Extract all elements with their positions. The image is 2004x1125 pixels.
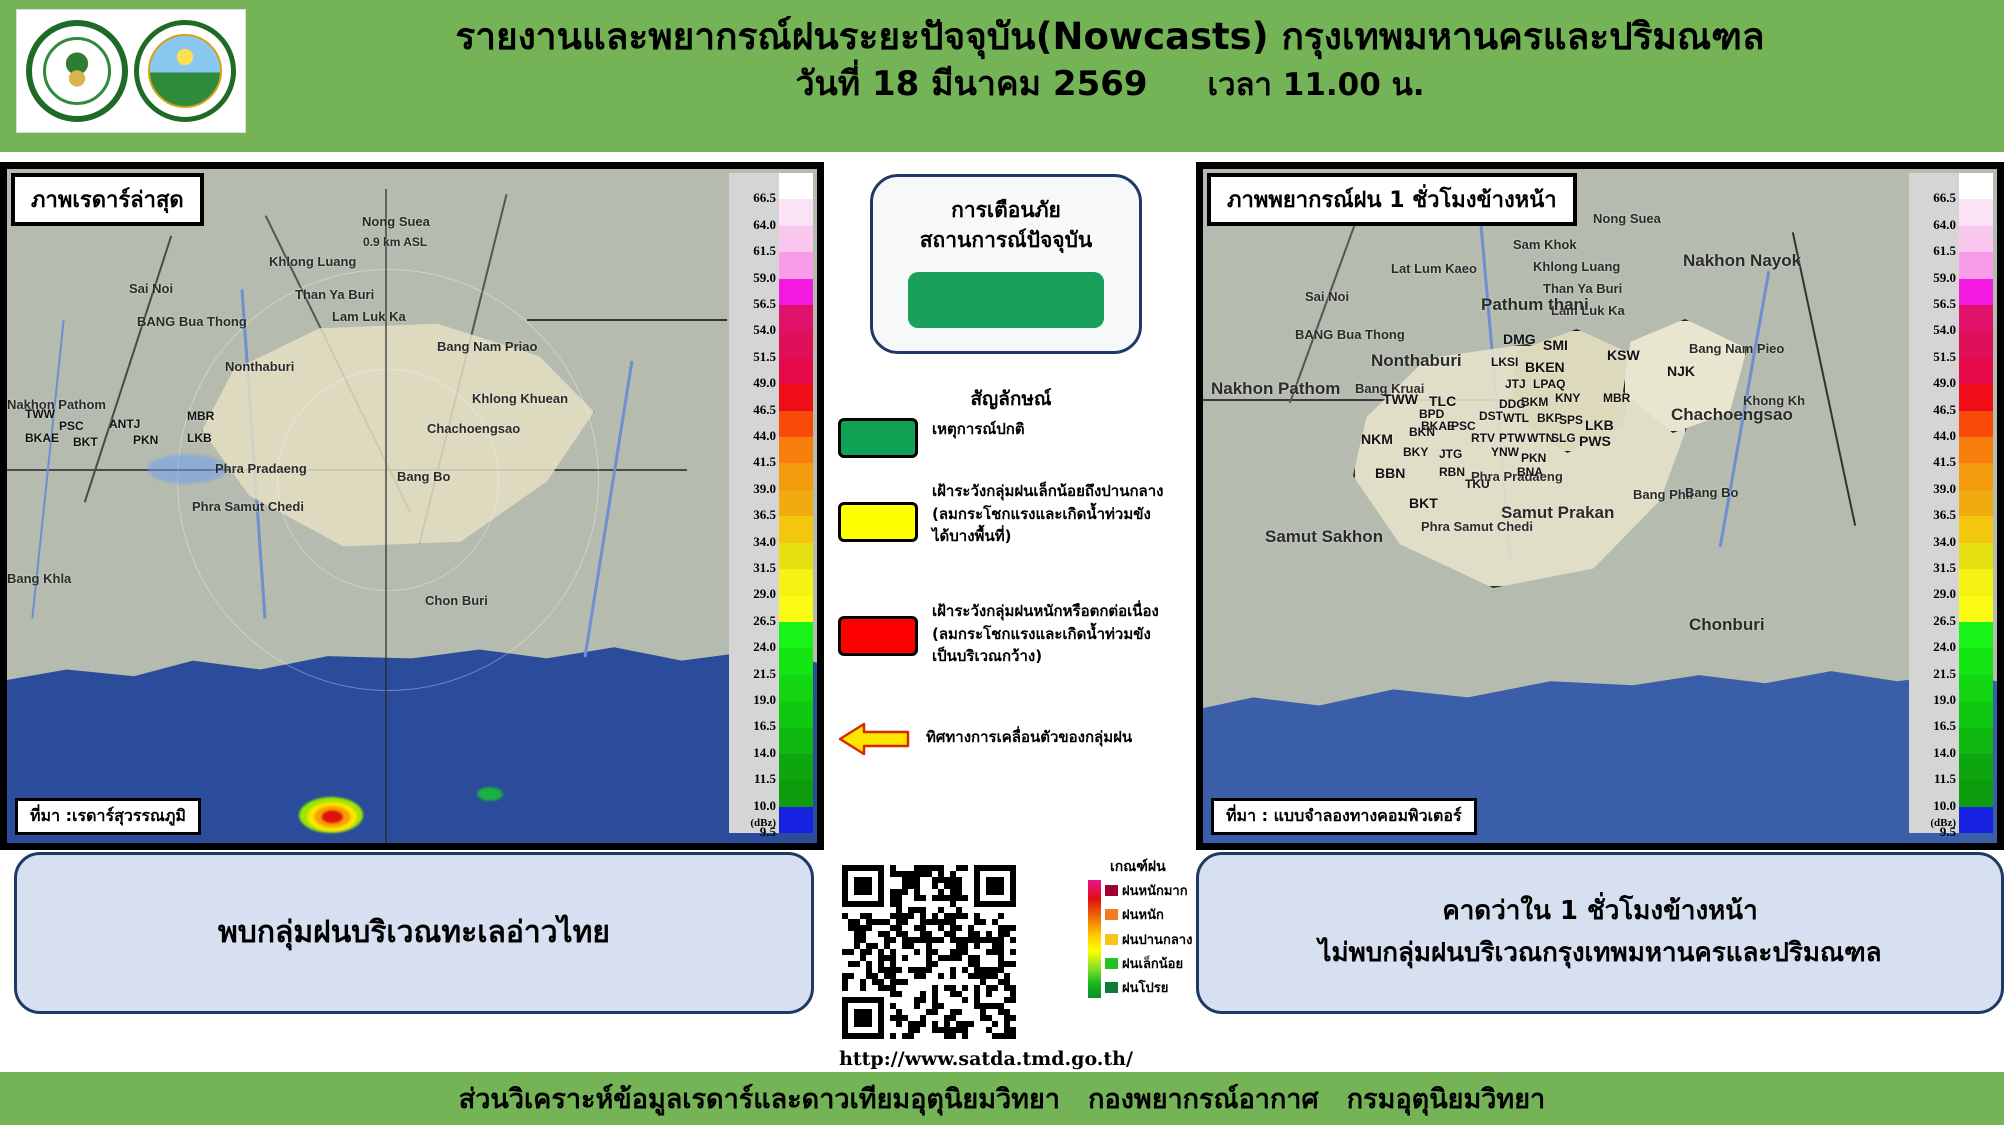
scale-color-band [1959,596,1993,622]
scale-tick: 19.0 [1933,692,1956,708]
scale-color-band [779,463,813,489]
radar-summary-box: พบกลุ่มฝนบริเวณทะเลอ่าวไทย [14,852,814,1014]
map-label: Khlong Khuean [472,391,568,406]
district-code: BPD [1419,407,1444,421]
scale-color-band [1959,648,1993,674]
scale-tick: 36.5 [753,507,776,523]
scale-tick: 59.0 [753,270,776,286]
agency-logos [16,9,246,133]
map-label: Than Ya Buri [1543,281,1622,296]
radar-range-ring [277,369,499,591]
forecast-source-tag: ที่มา : แบบจำลองทางคอมพิวเตอร์ [1211,798,1477,835]
map-label: Khong Kh [1743,393,1805,408]
scale-color-band [1959,331,1993,357]
scale-color-band [779,569,813,595]
district-code: LPAQ [1533,377,1565,391]
scale-tick: 26.5 [753,613,776,629]
map-label: Lam Luk Ka [332,309,406,324]
website-url[interactable]: http://www.satda.tmd.go.th/ [836,1048,1136,1070]
district-code: SMI [1543,337,1568,353]
district-code: SPS [1559,413,1583,427]
scale-color-bar [779,173,813,833]
district-code: JTJ [1505,377,1526,391]
warning-status-box: การเตือนภัย สถานการณ์ปัจจุบัน [870,174,1142,354]
scale-color-band [1959,780,1993,806]
legend-item-caution: เฝ้าระวังกลุ่มฝนเล็กน้อยถึงปานกลาง (ลมกร… [838,480,1163,548]
district-code: BBN [1375,465,1405,481]
scale-tick: 29.0 [1933,586,1956,602]
scale-color-band [779,648,813,674]
scale-color-band [1959,463,1993,489]
scale-color-band [779,173,813,199]
scale-color-band [1959,622,1993,648]
radar-center-axis [385,189,387,849]
warning-title-line1: การเตือนภัย [951,195,1061,225]
scale-tick: 24.0 [753,639,776,655]
scale-tick: 61.5 [753,243,776,259]
map-label: Nonthaburi [225,359,294,374]
scale-color-band [779,437,813,463]
legend-label: เฝ้าระวังกลุ่มฝนเล็กน้อยถึงปานกลาง (ลมกร… [932,480,1163,548]
rain-criteria-item: ฝนหนัก [1105,904,1192,925]
district-code: BKAE [25,431,59,445]
district-code: PKN [133,433,158,447]
radar-echo-cell [477,787,503,801]
district-code: DDG [1499,397,1526,411]
forecast-panel-tag: ภาพพยากรณ์ฝน 1 ชั่วโมงข้างหน้า [1207,173,1577,226]
map-label: Phra Samut Chedi [1421,519,1533,534]
scale-color-band [1959,569,1993,595]
scale-color-band [1959,437,1993,463]
scale-color-band [779,622,813,648]
map-label: Pathum thani [1481,295,1589,315]
scale-color-band [779,358,813,384]
legend-swatch-red [838,616,918,656]
scale-tick: 51.5 [753,349,776,365]
scale-tick: 34.0 [1933,534,1956,550]
radar-echo-cell [299,797,363,833]
scale-tick: 31.5 [753,560,776,576]
district-code: BKT [1409,495,1438,511]
scale-color-band [1959,199,1993,225]
scale-tick: 39.0 [1933,481,1956,497]
scale-tick: 21.5 [753,666,776,682]
district-code: KNY [1555,391,1580,405]
district-code: SLG [1551,431,1576,445]
district-code: MBR [1603,391,1630,405]
forecast-summary-line2: ไม่พบกลุ่มฝนบริเวณกรุงเทพมหานครและปริมณฑ… [1318,933,1881,975]
rain-criteria-item: ฝนปานกลาง [1105,929,1192,950]
map-label: Bang Bo [397,469,450,484]
scale-tick: 14.0 [753,745,776,761]
scale-color-band [1959,543,1993,569]
rain-criteria-swatch [1105,958,1118,969]
rain-criteria-label: ฝนโปรย [1122,977,1168,998]
district-code: LKB [187,431,212,445]
scale-color-band [779,675,813,701]
scale-unit: (dBz) [750,817,776,829]
district-code: LKB [1585,417,1614,433]
map-label: Nonthaburi [1371,351,1462,371]
scale-color-band [779,728,813,754]
district-code: MBR [187,409,214,423]
map-label: Nakhon Pathom [7,397,106,412]
district-code: BKY [1403,445,1428,459]
scale-color-bar [1959,173,1993,833]
map-label: Sai Noi [1305,289,1349,304]
scale-color-band [1959,728,1993,754]
district-code: NKM [1361,431,1393,447]
scale-tick: 54.0 [753,322,776,338]
district-code: LKSI [1491,355,1518,369]
district-code: PWS [1579,433,1611,449]
page-title: รายงานและพยากรณ์ฝนระยะปัจจุบัน(Nowcasts)… [250,14,1970,60]
scale-tick: 29.0 [753,586,776,602]
scale-color-band [1959,411,1993,437]
district-code: PTW [1499,431,1526,445]
forecast-map-panel[interactable]: Suphan Buri Phra Nakhon Si Ayutthaya Non… [1196,162,2004,850]
map-label: Chachoengsao [427,421,520,436]
scale-color-band [1959,754,1993,780]
scale-tick: 39.0 [753,481,776,497]
district-code: ANTJ [109,417,140,431]
scale-tick: 54.0 [1933,322,1956,338]
rain-criteria-item: ฝนหนักมาก [1105,880,1192,901]
district-code: TWW [25,407,55,421]
legend-label: เฝ้าระวังกลุ่มฝนหนักหรือตกต่อเนื่อง (ลมก… [932,600,1159,668]
rain-criteria-item: ฝนโปรย [1105,977,1192,998]
map-label: Bang Nam Priao [437,339,537,354]
rain-criteria-legend: เกณฑ์ฝน ฝนหนักมากฝนหนักฝนปานกลางฝนเล็กน้… [1088,856,1198,998]
legend-title: สัญลักษณ์ [830,384,1192,414]
scale-tick: 36.5 [1933,507,1956,523]
district-code: YNW [1491,445,1519,459]
district-code: KSW [1607,347,1640,363]
forecast-summary-box: คาดว่าใน 1 ชั่วโมงข้างหน้า ไม่พบกลุ่มฝนบ… [1196,852,2004,1014]
scale-tick: 51.5 [1933,349,1956,365]
scale-tick: 64.0 [1933,217,1956,233]
scale-tick: 66.5 [753,190,776,206]
scale-color-band [779,331,813,357]
rain-criteria-swatch [1105,934,1118,945]
map-label: Chon Buri [425,593,488,608]
scale-color-band [779,780,813,806]
map-label: Nakhon Pathom [1211,379,1340,399]
district-code: BNA [1517,465,1543,479]
forecast-summary-line1: คาดว่าใน 1 ชั่วโมงข้างหน้า [1442,891,1757,933]
district-code: DST [1479,409,1503,423]
district-code: BKN [1409,425,1435,439]
scale-tick: 66.5 [1933,190,1956,206]
scale-tick: 49.0 [753,375,776,391]
movement-arrow-icon [838,720,912,754]
district-code: PKN [1521,451,1546,465]
qr-code[interactable] [836,862,1080,1042]
scale-tick: 10.0 [1933,798,1956,814]
forecast-color-scale: 66.564.061.559.056.554.051.549.046.544.0… [1909,173,1993,833]
radar-source-tag: ที่มา :เรดาร์สุวรรณภูมิ [15,798,201,835]
rain-criteria-swatch [1105,909,1118,920]
legend-label: เหตุการณ์ปกติ [932,418,1025,441]
rain-criteria-label: ฝนหนัก [1122,904,1164,925]
map-label: Chachoengsao [1671,405,1793,425]
rain-criteria-item: ฝนเล็กน้อย [1105,953,1192,974]
page-header: รายงานและพยากรณ์ฝนระยะปัจจุบัน(Nowcasts)… [0,0,2004,152]
scale-tick: 34.0 [753,534,776,550]
radar-panel-tag: ภาพเรดาร์ล่าสุด [11,173,204,226]
scale-tick: 21.5 [1933,666,1956,682]
district-code: WTL [1503,411,1529,425]
header-date-time: วันที่ 18 มีนาคม 2569เวลา 11.00 น. [250,62,1970,108]
scale-color-band [1959,173,1993,199]
map-label: Nong Suea [1593,211,1661,226]
content-area: Nong Suea 0.9 km ASL Khlong Luang Than Y… [0,152,2004,1072]
scale-color-band [1959,384,1993,410]
legend-item-normal: เหตุการณ์ปกติ [838,418,1025,458]
rain-criteria-label: ฝนหนักมาก [1122,880,1188,901]
scale-tick: 41.5 [1933,454,1956,470]
map-label: Sai Noi [129,281,173,296]
scale-color-band [779,807,813,833]
district-code: JTG [1439,447,1462,461]
scale-tick: 41.5 [753,454,776,470]
district-code: BKEN [1525,359,1565,375]
scale-tick-labels: 66.564.061.559.056.554.051.549.046.544.0… [1909,173,1959,833]
warning-status-chip [908,272,1104,328]
scale-color-band [779,384,813,410]
rain-criteria-title: เกณฑ์ฝน [1110,856,1198,878]
rain-criteria-items: ฝนหนักมากฝนหนักฝนปานกลางฝนเล็กน้อยฝนโปรย [1105,880,1192,998]
map-label: Phra Pradaeng [215,461,307,476]
scale-tick: 19.0 [753,692,776,708]
map-label: BANG Bua Thong [137,314,247,329]
header-title-block: รายงานและพยากรณ์ฝนระยะปัจจุบัน(Nowcasts)… [250,14,1970,108]
scale-color-band [1959,675,1993,701]
map-label: Nong Suea [362,214,430,229]
district-code: BKT [73,435,98,449]
map-label-altitude: 0.9 km ASL [363,235,427,249]
legend-swatch-green [838,418,918,458]
legend-label: ทิศทางการเคลื่อนตัวของกลุ่มฝน [926,726,1132,749]
rain-criteria-label: ฝนปานกลาง [1122,929,1192,950]
map-label: Samut Sakhon [1265,527,1383,547]
rain-criteria-swatch [1105,885,1118,896]
scale-tick: 44.0 [1933,428,1956,444]
scale-tick: 46.5 [1933,402,1956,418]
scale-tick: 56.5 [1933,296,1956,312]
legend-item-direction: ทิศทางการเคลื่อนตัวของกลุ่มฝน [838,720,1132,754]
scale-color-band [779,199,813,225]
rain-criteria-label: ฝนเล็กน้อย [1122,953,1183,974]
scale-color-band [779,252,813,278]
scale-tick: 26.5 [1933,613,1956,629]
map-label: Bang Phli [1633,487,1693,502]
scale-tick: 16.5 [753,718,776,734]
scale-color-band [1959,490,1993,516]
scale-color-band [1959,226,1993,252]
scale-color-band [779,754,813,780]
report-time: เวลา 11.00 น. [1208,67,1425,103]
tmd-seal-icon [134,20,236,122]
scale-tick: 44.0 [753,428,776,444]
page-footer: ส่วนวิเคราะห์ข้อมูลเรดาร์และดาวเทียมอุตุ… [0,1072,2004,1125]
rain-criteria-gradient [1088,880,1101,998]
scale-color-band [1959,305,1993,331]
rain-criteria-swatch [1105,982,1118,993]
map-label: Bang Khla [7,571,71,586]
scale-tick: 61.5 [1933,243,1956,259]
scale-color-band [779,490,813,516]
scale-color-band [1959,516,1993,542]
district-code: PSC [59,419,84,433]
warning-title-line2: สถานการณ์ปัจจุบัน [920,225,1093,255]
district-code: TWW [1383,391,1418,407]
legend-swatch-yellow [838,502,918,542]
scale-tick: 59.0 [1933,270,1956,286]
qr-section: http://www.satda.tmd.go.th/ เกณฑ์ฝน ฝนหน… [836,862,1192,1042]
map-label: Than Ya Buri [295,287,374,302]
scale-color-band [779,543,813,569]
scale-color-band [1959,358,1993,384]
scale-tick: 16.5 [1933,718,1956,734]
map-label: Bang Bo [1685,485,1738,500]
radar-map-panel[interactable]: Nong Suea 0.9 km ASL Khlong Luang Than Y… [0,162,824,850]
scale-color-band [779,279,813,305]
district-code: DMG [1503,331,1536,347]
map-label: Khlong Luang [1533,259,1620,274]
map-label: Bang Nam Pieo [1689,341,1784,356]
scale-color-band [779,411,813,437]
map-label: Khlong Luang [269,254,356,269]
scale-color-band [779,701,813,727]
map-label: Phra Samut Chedi [192,499,304,514]
scale-tick: 14.0 [1933,745,1956,761]
scale-color-band [1959,807,1993,833]
scale-tick: 11.5 [754,771,776,787]
scale-color-band [779,516,813,542]
scale-color-band [1959,252,1993,278]
rain-criteria-body: ฝนหนักมากฝนหนักฝนปานกลางฝนเล็กน้อยฝนโปรย [1088,880,1198,998]
scale-color-band [779,226,813,252]
scale-unit: (dBz) [1930,817,1956,829]
legend-item-severe: เฝ้าระวังกลุ่มฝนหนักหรือตกต่อเนื่อง (ลมก… [838,600,1159,668]
scale-color-band [779,596,813,622]
map-label: BANG Bua Thong [1295,327,1405,342]
scale-tick: 49.0 [1933,375,1956,391]
boundary-line [527,319,727,321]
scale-tick: 11.5 [1934,771,1956,787]
scale-tick-labels: 66.564.061.559.056.554.051.549.046.544.0… [729,173,779,833]
scale-tick: 56.5 [753,296,776,312]
map-label: Nakhon Nayok [1683,251,1801,271]
map-label: Chonburi [1689,615,1765,635]
scale-tick: 10.0 [753,798,776,814]
district-code: RBN [1439,465,1465,479]
scale-tick: 24.0 [1933,639,1956,655]
scale-color-band [1959,701,1993,727]
district-code: TKU [1465,477,1490,491]
nowcast-report-page: รายงานและพยากรณ์ฝนระยะปัจจุบัน(Nowcasts)… [0,0,2004,1125]
report-date: วันที่ 18 มีนาคม 2569 [795,64,1147,104]
scale-color-band [1959,279,1993,305]
scale-tick: 64.0 [753,217,776,233]
district-code: RTV [1471,431,1495,445]
scale-tick: 31.5 [1933,560,1956,576]
center-legend-column: การเตือนภัย สถานการณ์ปัจจุบัน สัญลักษณ์ … [830,162,1192,1062]
radar-summary-text: พบกลุ่มฝนบริเวณทะเลอ่าวไทย [218,909,610,957]
royal-seal-icon [26,20,128,122]
scale-color-band [779,305,813,331]
map-label: Sam Khok [1513,237,1577,252]
radar-color-scale: 66.564.061.559.056.554.051.549.046.544.0… [729,173,813,833]
district-code: NJK [1667,363,1695,379]
map-label: Lat Lum Kaeo [1391,261,1477,276]
scale-tick: 46.5 [753,402,776,418]
footer-text: ส่วนวิเคราะห์ข้อมูลเรดาร์และดาวเทียมอุตุ… [459,1077,1545,1120]
